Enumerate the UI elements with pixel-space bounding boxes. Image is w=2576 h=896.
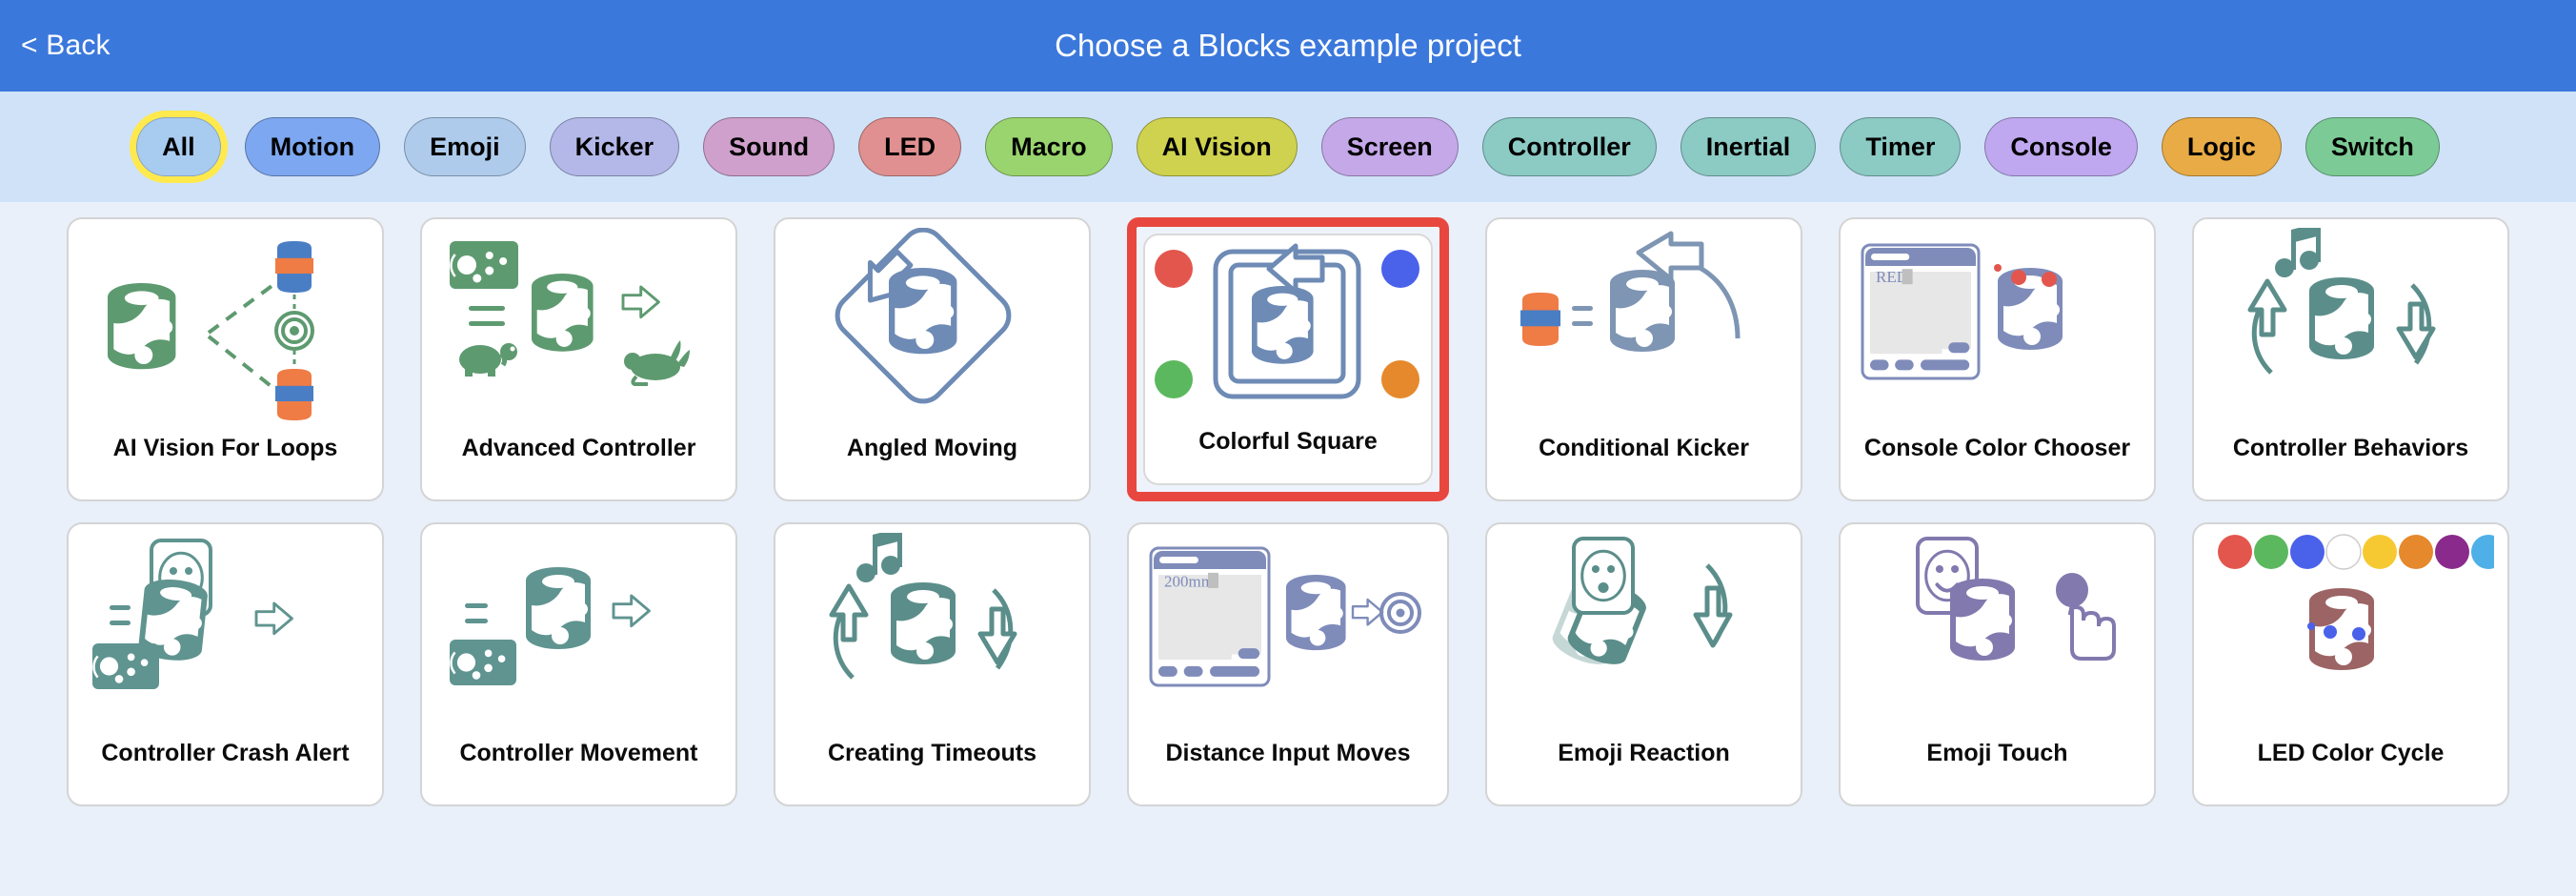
filter-pill-console[interactable]: Console [1984,117,2138,176]
project-card-illustration [69,524,382,741]
project-card-title: Conditional Kicker [1531,436,1757,500]
project-card-controller-behaviors[interactable]: Controller Behaviors [2192,217,2509,501]
project-card-emoji-touch[interactable]: Emoji Touch [1839,522,2156,806]
art-ai-vision-loops [83,228,369,433]
page-title: Choose a Blocks example project [0,28,2576,64]
back-button[interactable]: < Back [21,30,111,62]
filter-pill-label: Console [2010,132,2112,162]
project-card-title: AI Vision For Loops [106,436,346,500]
project-card-illustration: RED [1841,219,2154,436]
project-grid-area: AI Vision For Loops [0,202,2576,896]
project-card-slot: 200mm Distance Input Moves [1127,522,1449,806]
art-led-color-cycle [2208,533,2494,738]
project-card-illustration [2194,219,2507,436]
filter-pill-label: Inertial [1706,132,1791,162]
art-controller-movement [436,533,722,738]
filter-pill-label: Controller [1508,132,1631,162]
art-console-color: RED [1855,228,2141,433]
project-card-colorful-square[interactable]: Colorful Square [1143,234,1433,485]
project-card-controller-crash-alert[interactable]: Controller Crash Alert [67,522,384,806]
filter-pill-motion[interactable]: Motion [245,117,380,176]
project-card-ai-vision-for-loops[interactable]: AI Vision For Loops [67,217,384,501]
filter-pill-label: Kicker [575,132,654,162]
project-card-slot: Controller Movement [420,522,737,806]
project-card-title: Emoji Touch [1919,741,2075,805]
project-card-slot: RED Console Color Chooser [1839,217,2156,501]
filter-pill-timer[interactable]: Timer [1840,117,1961,176]
project-card-illustration [1487,219,1801,436]
art-distance-input: 200mm [1145,533,1431,738]
app-header: < Back Choose a Blocks example project [0,0,2576,92]
filter-pill-led[interactable]: LED [858,117,961,176]
filter-pill-label: LED [884,132,936,162]
filter-pill-label: Switch [2331,132,2414,162]
project-card-title: Emoji Reaction [1550,741,1738,805]
filter-pill-switch[interactable]: Switch [2305,117,2440,176]
art-creating-timeouts [790,533,1076,738]
filter-pill-ai-vision[interactable]: AI Vision [1137,117,1298,176]
project-card-illustration [1145,235,1431,429]
art-controller-behaviors [2208,228,2494,433]
filter-pill-inertial[interactable]: Inertial [1680,117,1817,176]
project-card-slot: Controller Crash Alert [67,522,384,806]
project-card-creating-timeouts[interactable]: Creating Timeouts [774,522,1091,806]
filter-pill-label: Motion [271,132,354,162]
filter-pill-label: AI Vision [1162,132,1272,162]
project-card-title: Distance Input Moves [1158,741,1419,805]
project-card-slot: Creating Timeouts [774,522,1091,806]
project-card-angled-moving[interactable]: Angled Moving [774,217,1091,501]
art-colorful-square [1145,236,1431,427]
project-card-illustration [422,219,735,436]
project-card-illustration [422,524,735,741]
project-card-selected: Colorful Square [1127,217,1449,501]
project-card-title: Controller Movement [452,741,705,805]
project-card-title: Advanced Controller [454,436,704,500]
project-card-emoji-reaction[interactable]: Emoji Reaction [1485,522,1802,806]
project-card-conditional-kicker[interactable]: Conditional Kicker [1485,217,1802,501]
project-card-illustration [1841,524,2154,741]
filter-pill-label: Macro [1011,132,1087,162]
project-card-title: Console Color Chooser [1857,436,2138,500]
art-angled-moving [790,228,1076,433]
project-card-title: Controller Crash Alert [93,741,356,805]
project-card-illustration [775,524,1089,741]
art-crash-alert [83,533,369,738]
project-card-advanced-controller[interactable]: Advanced Controller [420,217,737,501]
project-card-illustration [69,219,382,436]
filter-pill-logic[interactable]: Logic [2162,117,2282,176]
art-emoji-reaction [1501,533,1787,738]
filter-pill-label: Emoji [430,132,500,162]
filter-pill-label: Screen [1347,132,1433,162]
art-conditional-kicker [1501,228,1787,433]
project-card-slot: Emoji Touch [1839,522,2156,806]
art-emoji-touch [1855,533,2141,738]
project-card-title: LED Color Cycle [2250,741,2452,805]
project-card-slot: AI Vision For Loops [67,217,384,501]
project-card-slot: Controller Behaviors [2192,217,2509,501]
project-card-distance-input-moves[interactable]: 200mm Distance Input Moves [1127,522,1449,806]
project-card-console-color-chooser[interactable]: RED Console Color Chooser [1839,217,2156,501]
project-card-illustration [2194,524,2507,741]
filter-pill-controller[interactable]: Controller [1482,117,1657,176]
filter-pill-label: Sound [729,132,809,162]
category-filter-bar: AllMotionEmojiKickerSoundLEDMacroAI Visi… [0,92,2576,202]
filter-pill-macro[interactable]: Macro [985,117,1113,176]
filter-pill-emoji[interactable]: Emoji [404,117,526,176]
project-card-led-color-cycle[interactable]: LED Color Cycle [2192,522,2509,806]
svg-text:200mm: 200mm [1164,572,1214,590]
filter-pill-label: Logic [2187,132,2256,162]
project-card-title: Controller Behaviors [2225,436,2476,500]
project-card-slot: Advanced Controller [420,217,737,501]
project-card-title: Angled Moving [839,436,1025,500]
project-card-illustration: 200mm [1129,524,1447,741]
project-card-slot: LED Color Cycle [2192,522,2509,806]
filter-pill-kicker[interactable]: Kicker [550,117,680,176]
project-card-slot: Emoji Reaction [1485,522,1802,806]
project-card-title: Creating Timeouts [820,741,1044,805]
project-grid: AI Vision For Loops [67,217,2509,806]
filter-pill-all[interactable]: All [136,117,221,176]
art-advanced-controller [436,228,722,433]
filter-pill-label: All [162,132,195,162]
project-card-controller-movement[interactable]: Controller Movement [420,522,737,806]
filter-pill-sound[interactable]: Sound [703,117,835,176]
filter-pill-label: Timer [1865,132,1935,162]
project-card-slot: Conditional Kicker [1485,217,1802,501]
project-card-slot: Angled Moving [774,217,1091,501]
project-card-title: Colorful Square [1191,429,1385,484]
project-card-illustration [775,219,1089,436]
project-card-illustration [1487,524,1801,741]
filter-pill-screen[interactable]: Screen [1321,117,1459,176]
